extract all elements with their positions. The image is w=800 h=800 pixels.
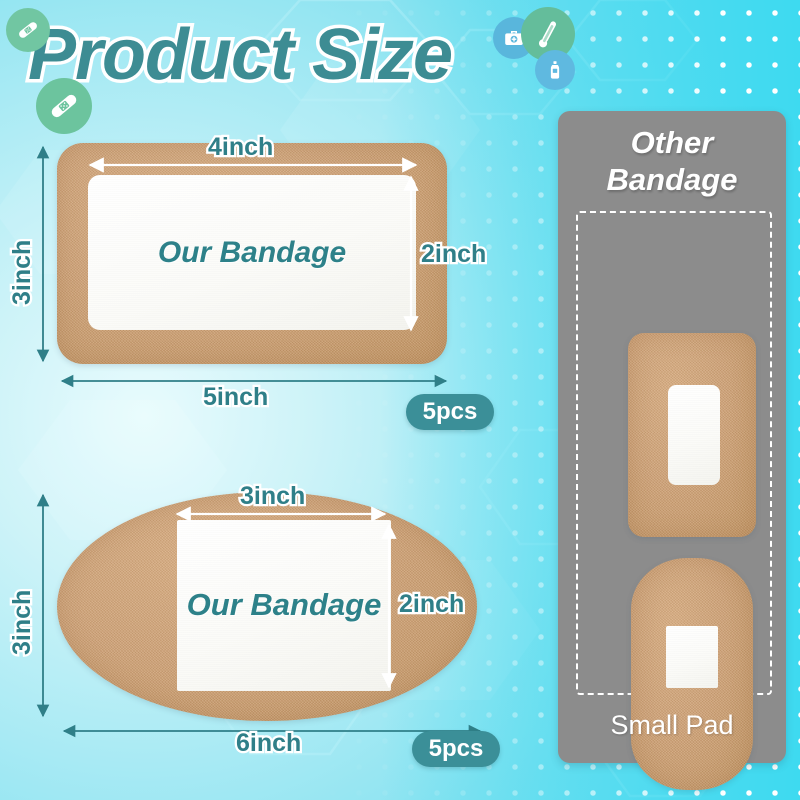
other-small-rect-pad (668, 385, 720, 485)
other-small-oval-pad (666, 626, 718, 688)
other-bandage-title-line1: Other (558, 125, 786, 162)
bandage-pad: Our Bandage (177, 520, 391, 691)
dimension-label-pad-height: 2inch (421, 240, 486, 269)
other-bandage-title: Other Bandage (558, 125, 786, 198)
product-size-infographic: Product Size (0, 0, 800, 800)
dashed-outline-box (576, 211, 772, 695)
quantity-badge: 5pcs (406, 394, 494, 430)
bandage-pad-label: Our Bandage (158, 235, 346, 270)
rectangular-bandage: Our Bandage (57, 143, 447, 364)
page-title: Product Size (28, 14, 452, 96)
bandage-pad-label: Our Bandage (187, 587, 382, 624)
other-bandage-panel: Other Bandage Small Pad (558, 111, 786, 763)
other-bandage-title-line2: Bandage (558, 162, 786, 199)
dimension-label-outer-width: 6inch (236, 729, 301, 758)
dimension-label-pad-height: 2inch (399, 590, 464, 619)
quantity-badge: 5pcs (412, 731, 500, 767)
dimension-label-outer-height: 3inch (8, 590, 37, 655)
dimension-label-outer-width: 5inch (203, 383, 268, 412)
dimension-label-pad-width: 3inch (240, 482, 305, 511)
small-pad-caption: Small Pad (558, 710, 786, 741)
bottle-icon (535, 50, 575, 90)
bandage-pad: Our Bandage (88, 175, 416, 330)
other-small-rect-bandage (628, 333, 756, 537)
bandage-icon (6, 8, 50, 52)
bandage-icon (36, 78, 92, 134)
dimension-label-pad-width: 4inch (208, 133, 273, 162)
dimension-label-outer-height: 3inch (8, 240, 37, 305)
other-small-oval-bandage (631, 558, 753, 790)
